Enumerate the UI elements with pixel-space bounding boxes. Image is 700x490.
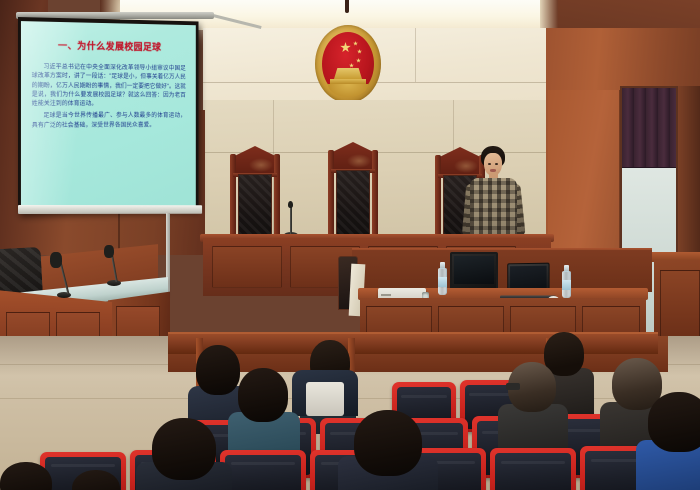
courtroom-rail [168,332,658,354]
hair [648,392,700,452]
microphone-base [107,280,121,286]
audience-member-head [152,418,216,480]
judge-chair[interactable] [227,146,283,246]
chair-post [328,150,334,242]
hair [238,368,288,422]
water-bottle[interactable] [438,262,447,295]
clerk-desk-panel [660,270,700,342]
microphone-stem [290,206,292,234]
audience-member-shirt [306,382,344,416]
projection-screen[interactable]: 一、为什么发展校园足球 习近平总书记在中央全面深化改革领导小组审议中国足球改革方… [18,17,198,214]
slide-title: 一、为什么发展校园足球 [28,37,190,54]
hair [152,418,216,480]
projected-slide: 一、为什么发展校园足球 习近平总书记在中央全面深化改革领导小组审议中国足球改革方… [21,21,196,211]
bottle-label [438,277,447,287]
audience-member-head [354,410,422,476]
chair-carving [249,158,273,172]
desktop-monitor[interactable] [450,252,498,291]
hair [196,345,240,395]
chair-post [230,154,236,246]
presenter-eye [495,163,498,165]
microphone-icon[interactable] [288,201,293,208]
audience-seat[interactable] [490,448,576,490]
seat-cushion [225,455,301,490]
slide-paragraph: 习近平总书记在中央全面深化改革领导小组审议中国足球改革方案时，讲了一段话："足球… [32,62,186,108]
chair-leather-back [336,170,370,242]
courtroom-lecture-scene: 一、为什么发展校园足球 习近平总书记在中央全面深化改革领导小组审议中国足球改革方… [0,0,700,490]
presenter-eye [488,163,491,165]
monitor-screen [454,256,494,284]
projection-screen-bottom-bar[interactable] [18,205,202,214]
audience-member-head [196,345,240,395]
audience-seat[interactable] [220,450,306,490]
front-desk-back-panel [352,250,652,292]
emblem-cogwheel-sheaf-icon [328,84,368,97]
audience-member-head [238,368,288,422]
chair-post [274,154,280,246]
judge-chair[interactable] [325,142,381,242]
microphone-icon[interactable] [104,245,114,258]
bottle-label [562,280,571,290]
china-national-emblem [315,25,381,105]
slide-paragraph: 足球是当今世界传播最广、参与人数最多的体育运动，具有广泛的社会基础，深受世界各国… [32,111,186,129]
audience-member-head [648,392,700,452]
hair [354,410,422,476]
window-valance-curtain [622,88,676,168]
slide-body: 习近平总书记在中央全面深化改革领导小组审议中国足球改革方案时，讲了一段话："足球… [28,62,190,130]
seat-cushion [495,453,571,490]
emblem-tiananmen-gate-icon [334,68,362,79]
bench-front-panel [212,246,282,288]
microphone-icon[interactable] [50,252,62,268]
water-bottle[interactable] [562,265,571,298]
chair-crest [233,146,277,176]
presenter-mouth [490,169,496,172]
wall-seam-vertical [415,28,416,82]
eyeglasses-icon [506,383,520,390]
ceiling-light-panel-right-edge [540,0,558,30]
chair-carving [347,154,371,168]
chair-post [372,150,378,242]
ceiling-hook [345,0,349,13]
chair-crest [331,142,375,172]
